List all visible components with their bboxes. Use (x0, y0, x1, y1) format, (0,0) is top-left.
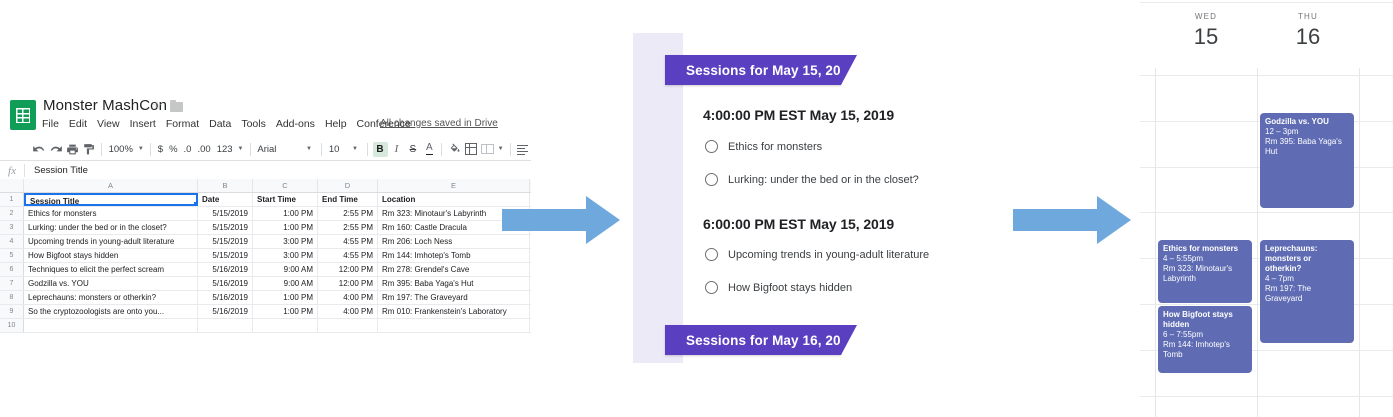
column-header-a[interactable]: A (24, 179, 198, 192)
banner-tail-shape (841, 55, 857, 85)
radio-option-upcoming-trends[interactable]: Upcoming trends in young-adult literatur… (705, 248, 929, 261)
fill-color-icon[interactable] (446, 140, 462, 158)
font-size-value: 10 (329, 144, 340, 155)
radio-button-icon[interactable] (705, 248, 718, 261)
formula-bar-input[interactable]: Session Title (25, 165, 88, 176)
cell-start-time[interactable]: 1:00 PM (253, 207, 318, 220)
cell-session-title[interactable]: So the cryptozoologists are onto you... (24, 305, 198, 318)
radio-option-ethics-for-monsters[interactable]: Ethics for monsters (705, 140, 822, 153)
cell-end-time[interactable]: 4:00 PM (318, 291, 378, 304)
calendar-event-location: Rm 323: Minotaur's Labyrinth (1163, 264, 1247, 284)
radio-button-icon[interactable] (705, 173, 718, 186)
undo-icon[interactable] (31, 140, 47, 158)
table-row: 7Godzilla vs. YOU5/16/20199:00 AM12:00 P… (0, 277, 531, 291)
google-sheets-panel: Monster MashCon ☆ File Edit View Insert … (0, 94, 531, 320)
cell-location[interactable]: Rm 144: Imhotep's Tomb (378, 249, 530, 262)
spreadsheet-grid: A B C D E 1 Session Title Date Start Tim… (0, 179, 531, 333)
cell-location[interactable]: Rm 010: Frankenstein's Laboratory (378, 305, 530, 318)
flow-arrow-sheet-to-form (502, 196, 620, 244)
calendar-event-time: 12 – 3pm (1265, 127, 1349, 137)
calendar-grid-hline (1140, 75, 1393, 76)
cell-b1[interactable]: Date (198, 193, 253, 206)
cell-location[interactable]: Rm 278: Grendel's Cave (378, 263, 530, 276)
merge-cells-icon[interactable] (481, 144, 494, 154)
cell-a1[interactable]: Session Title (24, 193, 198, 206)
cell-location[interactable]: Rm 197: The Graveyard (378, 291, 530, 304)
radio-option-label: Lurking: under the bed or in the closet? (728, 174, 919, 186)
arrow-right-icon (502, 196, 620, 244)
radio-option-label: Upcoming trends in young-adult literatur… (728, 249, 929, 261)
cell-end-time[interactable]: 4:55 PM (318, 249, 378, 262)
menu-item-view[interactable]: View (97, 118, 120, 130)
form-banner-may-15-label: Sessions for May 15, 2019 (665, 63, 856, 78)
table-row: 8Leprechauns: monsters or otherkin?5/16/… (0, 291, 531, 305)
font-size-chevron-down-icon: ▼ (350, 146, 360, 152)
google-forms-panel: Sessions for May 15, 2019 4:00:00 PM EST… (633, 33, 921, 363)
flow-arrow-form-to-calendar (1013, 196, 1131, 244)
cell-session-title[interactable]: Upcoming trends in young-adult literatur… (24, 235, 198, 248)
row-number[interactable]: 8 (0, 291, 24, 304)
menu-item-tools[interactable]: Tools (241, 118, 266, 130)
menu-item-addons[interactable]: Add-ons (276, 118, 315, 130)
zoom-level[interactable]: 100% (106, 144, 136, 155)
merge-chevron-down-icon[interactable]: ▼ (496, 146, 506, 152)
bold-button[interactable]: B (373, 142, 388, 157)
decrease-decimal-button[interactable]: .0 (181, 144, 195, 155)
horizontal-align-icon[interactable] (515, 140, 531, 158)
star-icon[interactable]: ☆ (152, 101, 162, 112)
table-row: 4Upcoming trends in young-adult literatu… (0, 235, 531, 249)
cell-date[interactable]: 5/15/2019 (198, 221, 253, 234)
calendar-top-divider (1140, 2, 1393, 3)
cell-start-time[interactable] (253, 319, 318, 332)
calendar-dow-label: THU (1257, 12, 1359, 21)
redo-icon[interactable] (47, 140, 63, 158)
calendar-event-location: Rm 197: The Graveyard (1265, 284, 1349, 304)
google-calendar-panel: WED 15 THU 16 Godzilla vs. YOU 12 – 3pm … (1140, 0, 1393, 417)
arrow-right-icon (1013, 196, 1131, 244)
calendar-grid-hline (1140, 212, 1393, 213)
calendar-grid-hline (1140, 396, 1393, 397)
font-family-value: Arial (257, 144, 276, 155)
cell-start-time[interactable]: 1:00 PM (253, 221, 318, 234)
print-icon[interactable] (64, 140, 80, 158)
cell-date[interactable]: 5/16/2019 (198, 305, 253, 318)
google-sheets-logo-icon (10, 100, 36, 130)
cell-date[interactable]: 5/15/2019 (198, 235, 253, 248)
cell-date[interactable]: 5/15/2019 (198, 207, 253, 220)
calendar-event-bigfoot[interactable]: How Bigfoot stays hidden 6 – 7:55pm Rm 1… (1158, 306, 1252, 373)
calendar-day-number: 16 (1257, 24, 1359, 50)
cell-location[interactable] (378, 319, 530, 332)
chevron-down-icon[interactable]: ▼ (136, 146, 146, 152)
font-size-select[interactable]: 10 ▼ (326, 144, 363, 155)
table-row: 1 Session Title Date Start Time End Time… (0, 193, 531, 207)
font-family-select[interactable]: Arial ▼ (254, 144, 317, 155)
row-number[interactable]: 10 (0, 319, 24, 332)
menu-item-format[interactable]: Format (166, 118, 199, 130)
row-number[interactable]: 2 (0, 207, 24, 220)
row-number[interactable]: 1 (0, 193, 24, 206)
row-number[interactable]: 6 (0, 263, 24, 276)
form-body: Sessions for May 15, 2019 4:00:00 PM EST… (689, 33, 921, 363)
sheets-toolbar: 100% ▼ $ % .0 .00 123 ▼ Arial ▼ 10 ▼ B I… (0, 138, 531, 160)
menu-bar: File Edit View Insert Format Data Tools … (42, 118, 411, 130)
cell-end-time[interactable]: 2:55 PM (318, 221, 378, 234)
menu-item-file[interactable]: File (42, 118, 59, 130)
cell-date[interactable]: 5/16/2019 (198, 277, 253, 290)
calendar-event-leprechauns[interactable]: Leprechauns: monsters or otherkin? 4 – 7… (1260, 240, 1354, 343)
cell-start-time[interactable]: 3:00 PM (253, 235, 318, 248)
cell-date[interactable]: 5/16/2019 (198, 291, 253, 304)
number-format-button[interactable]: 123 (214, 144, 236, 155)
menu-item-data[interactable]: Data (209, 118, 231, 130)
cell-session-title[interactable]: Leprechauns: monsters or otherkin? (24, 291, 198, 304)
cell-date[interactable]: 5/16/2019 (198, 263, 253, 276)
strikethrough-button[interactable]: S (405, 140, 421, 158)
radio-button-icon[interactable] (705, 140, 718, 153)
radio-option-label: Ethics for monsters (728, 141, 822, 153)
cell-end-time[interactable]: 12:00 PM (318, 263, 378, 276)
cell-start-time[interactable]: 9:00 AM (253, 263, 318, 276)
cell-date[interactable] (198, 319, 253, 332)
radio-option-lurking[interactable]: Lurking: under the bed or in the closet? (705, 173, 919, 186)
cell-d1[interactable]: End Time (318, 193, 378, 206)
cell-session-title[interactable]: Lurking: under the bed or in the closet? (24, 221, 198, 234)
radio-button-icon[interactable] (705, 281, 718, 294)
save-status-link[interactable]: All changes saved in Drive (380, 118, 498, 129)
menu-item-help[interactable]: Help (325, 118, 347, 130)
table-row: 9So the cryptozoologists are onto you...… (0, 305, 531, 319)
currency-format-button[interactable]: $ (155, 144, 166, 155)
formula-bar: fx Session Title (0, 160, 531, 181)
document-title[interactable]: Monster MashCon (43, 97, 167, 114)
folder-icon[interactable] (170, 102, 183, 112)
row-number[interactable]: 4 (0, 235, 24, 248)
calendar-day-number: 15 (1155, 24, 1257, 50)
column-header-e[interactable]: E (378, 179, 530, 192)
cell-end-time[interactable]: 2:55 PM (318, 207, 378, 220)
calendar-event-title: Godzilla vs. YOU (1265, 117, 1349, 127)
row-number[interactable]: 3 (0, 221, 24, 234)
calendar-event-location: Rm 395: Baba Yaga's Hut (1265, 137, 1349, 157)
calendar-event-godzilla[interactable]: Godzilla vs. YOU 12 – 3pm Rm 395: Baba Y… (1260, 113, 1354, 208)
percent-format-button[interactable]: % (166, 144, 180, 155)
banner-tail-shape (841, 325, 857, 355)
calendar-event-title: How Bigfoot stays hidden (1163, 310, 1247, 330)
table-row: 10 (0, 319, 531, 333)
calendar-event-ethics[interactable]: Ethics for monsters 4 – 5:55pm Rm 323: M… (1158, 240, 1252, 303)
row-number[interactable]: 9 (0, 305, 24, 318)
column-header-c[interactable]: C (253, 179, 318, 192)
calendar-event-title: Leprechauns: monsters or otherkin? (1265, 244, 1349, 274)
form-banner-may-15: Sessions for May 15, 2019 (665, 55, 841, 85)
corner-select-all[interactable] (0, 179, 24, 192)
borders-icon[interactable] (465, 143, 477, 155)
menu-item-insert[interactable]: Insert (130, 118, 156, 130)
cell-end-time[interactable]: 12:00 PM (318, 277, 378, 290)
calendar-event-time: 4 – 7pm (1265, 274, 1349, 284)
text-color-button[interactable]: A (426, 143, 433, 155)
calendar-event-time: 4 – 5:55pm (1163, 254, 1247, 264)
calendar-event-time: 6 – 7:55pm (1163, 330, 1247, 340)
spreadsheet-data-rows: 2Ethics for monsters5/15/20191:00 PM2:55… (0, 207, 531, 333)
form-banner-may-16-label: Sessions for May 16, 2019 (665, 333, 856, 348)
cell-start-time[interactable]: 3:00 PM (253, 249, 318, 262)
increase-decimal-button[interactable]: .00 (194, 144, 213, 155)
form-banner-may-16: Sessions for May 16, 2019 (665, 325, 841, 355)
calendar-event-location: Rm 144: Imhotep's Tomb (1163, 340, 1247, 360)
sheets-titlebar: Monster MashCon ☆ File Edit View Insert … (0, 94, 531, 138)
column-header-row: A B C D E (0, 179, 531, 193)
number-format-chevron-down-icon[interactable]: ▼ (236, 146, 246, 152)
fx-icon: fx (0, 165, 24, 177)
paint-format-icon[interactable] (80, 140, 96, 158)
cell-end-time[interactable] (318, 319, 378, 332)
table-row: 5How Bigfoot stays hidden5/15/20193:00 P… (0, 249, 531, 263)
column-header-b[interactable]: B (198, 179, 253, 192)
cell-session-title[interactable] (24, 319, 198, 332)
cell-end-time[interactable]: 4:00 PM (318, 305, 378, 318)
cell-start-time[interactable]: 1:00 PM (253, 291, 318, 304)
calendar-dow-label: WED (1155, 12, 1257, 21)
cell-location[interactable]: Rm 395: Baba Yaga's Hut (378, 277, 530, 290)
calendar-day-header-wed[interactable]: WED 15 (1155, 12, 1257, 50)
column-header-d[interactable]: D (318, 179, 378, 192)
calendar-day-header-thu[interactable]: THU 16 (1257, 12, 1359, 50)
italic-button[interactable]: I (388, 140, 404, 158)
cell-session-title[interactable]: Techniques to elicit the perfect scream (24, 263, 198, 276)
row-number[interactable]: 5 (0, 249, 24, 262)
row-number[interactable]: 7 (0, 277, 24, 290)
cell-session-title[interactable]: How Bigfoot stays hidden (24, 249, 198, 262)
cell-start-time[interactable]: 9:00 AM (253, 277, 318, 290)
table-row: 2Ethics for monsters5/15/20191:00 PM2:55… (0, 207, 531, 221)
cell-session-title[interactable]: Ethics for monsters (24, 207, 198, 220)
radio-option-label: How Bigfoot stays hidden (728, 282, 852, 294)
cell-start-time[interactable]: 1:00 PM (253, 305, 318, 318)
table-row: 3Lurking: under the bed or in the closet… (0, 221, 531, 235)
menu-item-edit[interactable]: Edit (69, 118, 87, 130)
radio-option-how-bigfoot[interactable]: How Bigfoot stays hidden (705, 281, 852, 294)
section-heading-400pm: 4:00:00 PM EST May 15, 2019 (703, 107, 894, 123)
cell-date[interactable]: 5/15/2019 (198, 249, 253, 262)
table-row: 6Techniques to elicit the perfect scream… (0, 263, 531, 277)
cell-session-title[interactable]: Godzilla vs. YOU (24, 277, 198, 290)
section-heading-600pm: 6:00:00 PM EST May 15, 2019 (703, 216, 894, 232)
calendar-event-title: Ethics for monsters (1163, 244, 1247, 254)
font-chevron-down-icon: ▼ (304, 146, 314, 152)
cell-end-time[interactable]: 4:55 PM (318, 235, 378, 248)
cell-c1[interactable]: Start Time (253, 193, 318, 206)
